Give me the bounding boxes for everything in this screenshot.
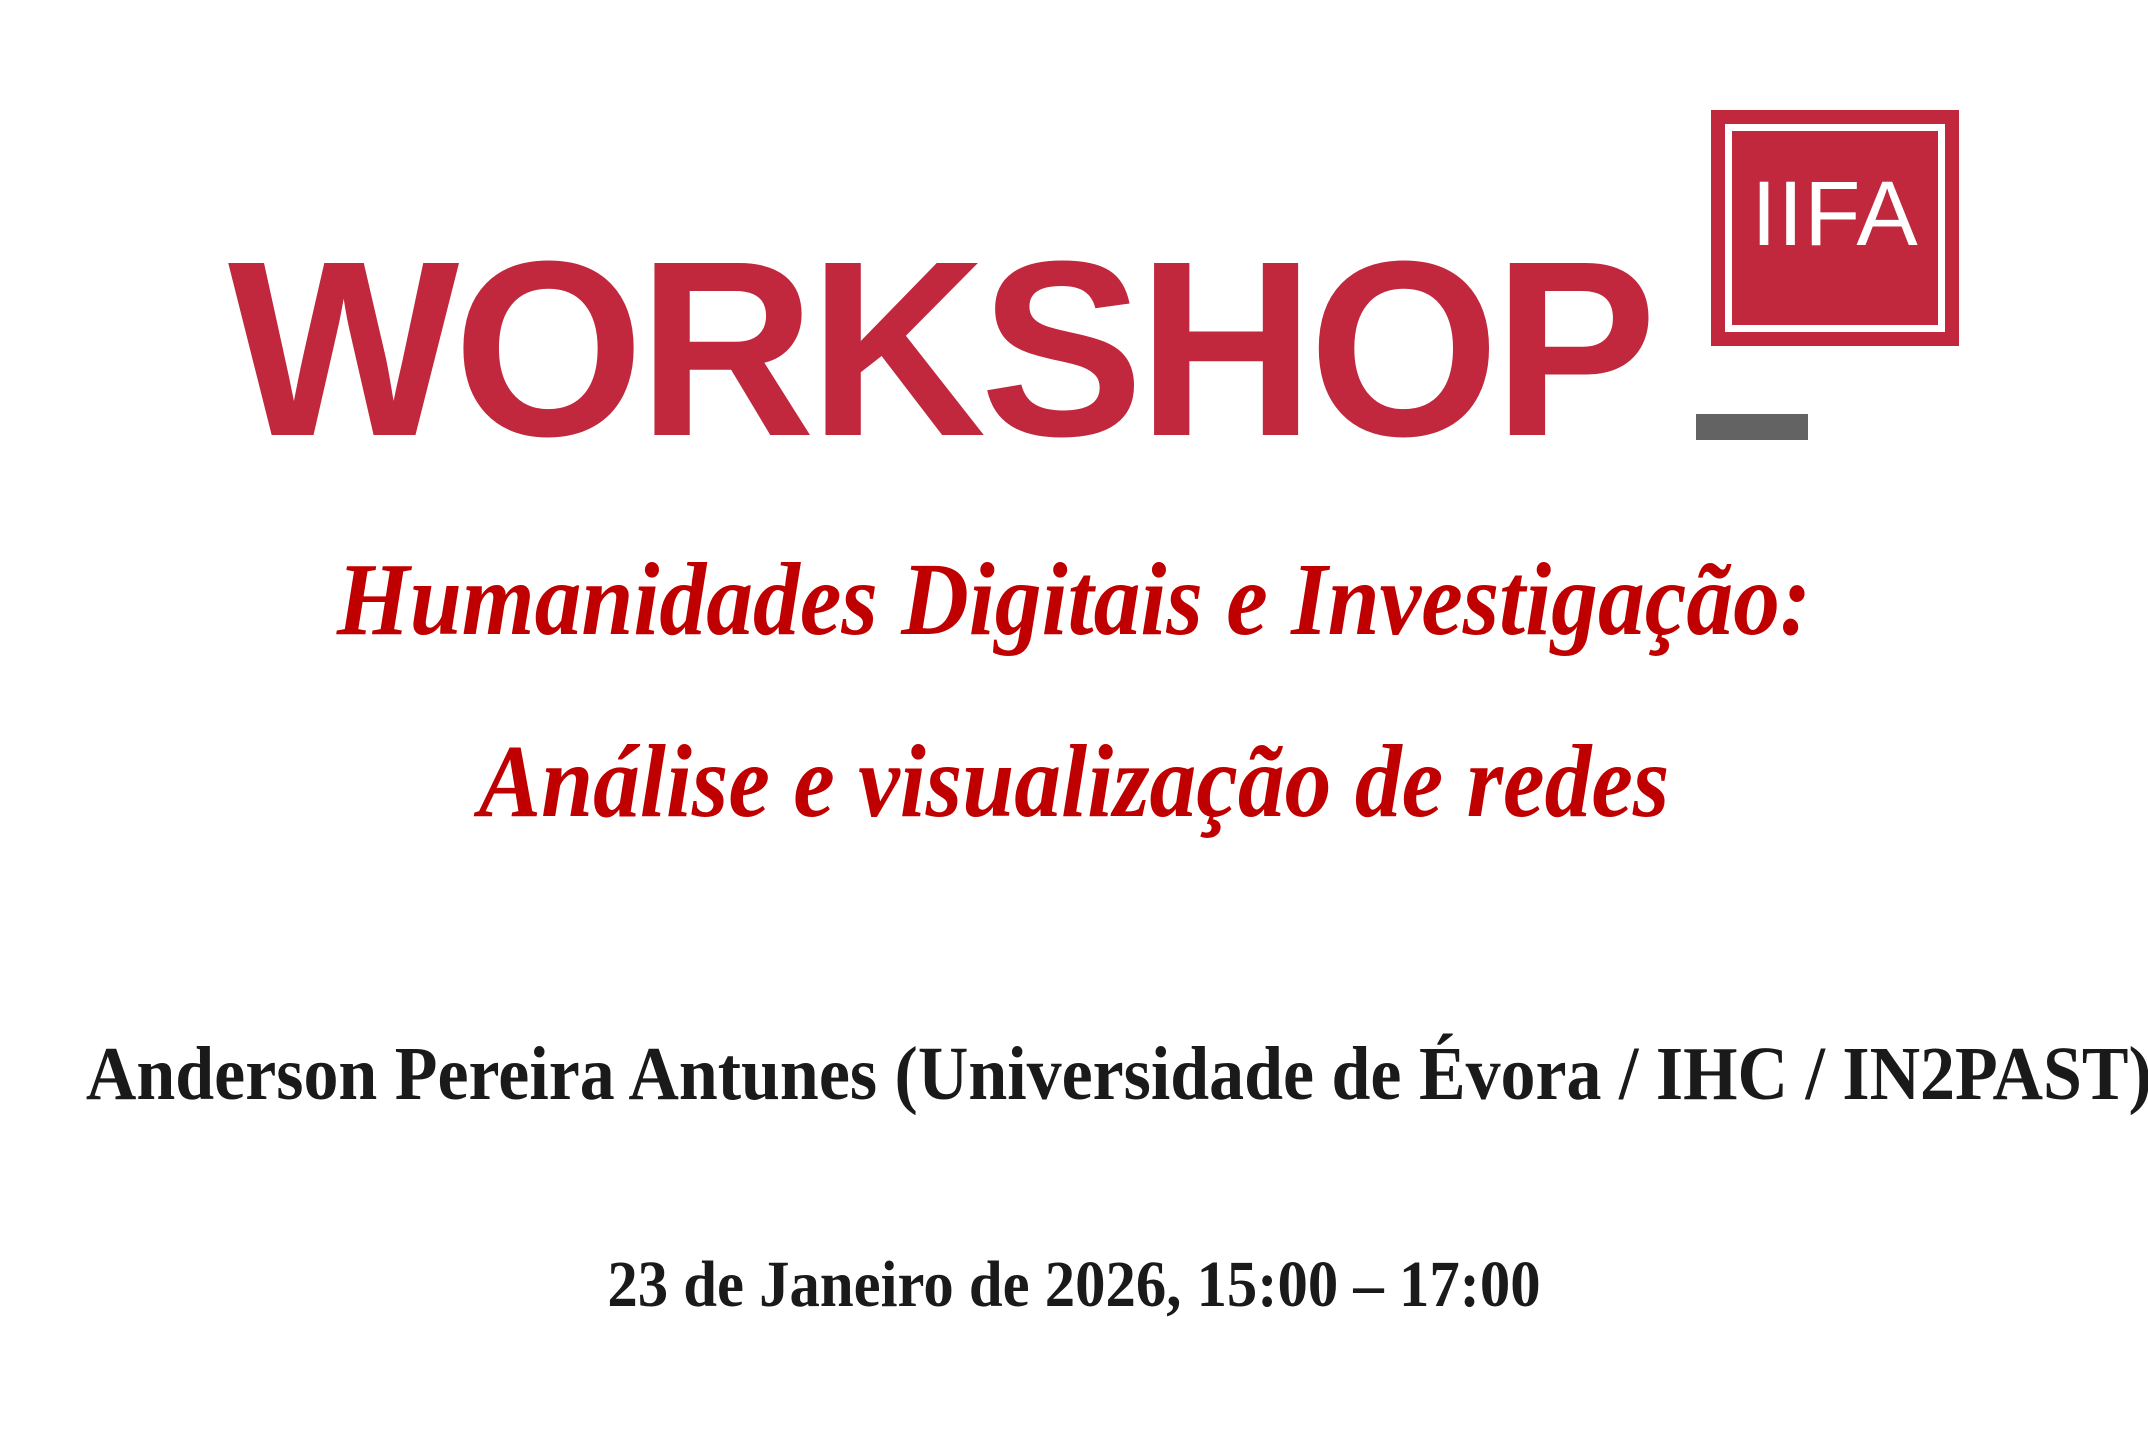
workshop-wordmark-text: WORKSHOP [228, 251, 1651, 446]
underscore-icon [1696, 414, 1808, 440]
poster-header: WORKSHOP IIFA [0, 96, 2148, 356]
title-line-1: Humanidades Digitais e Investigação: [107, 548, 2040, 652]
poster-title: Humanidades Digitais e Investigação: Aná… [0, 548, 2148, 834]
iifa-logo: IIFA [1711, 110, 1959, 346]
event-datetime: 23 de Janeiro de 2026, 15:00 – 17:00 [86, 1252, 2062, 1318]
speaker-affiliation: Anderson Pereira Antunes (Universidade d… [86, 1036, 2062, 1112]
title-line-2: Análise e visualização de redes [107, 730, 2040, 834]
iifa-logo-text: IIFA [1711, 168, 1959, 260]
workshop-poster: WORKSHOP IIFA Humanidades Digitais e Inv… [0, 0, 2148, 1440]
workshop-wordmark: WORKSHOP [228, 216, 1808, 446]
